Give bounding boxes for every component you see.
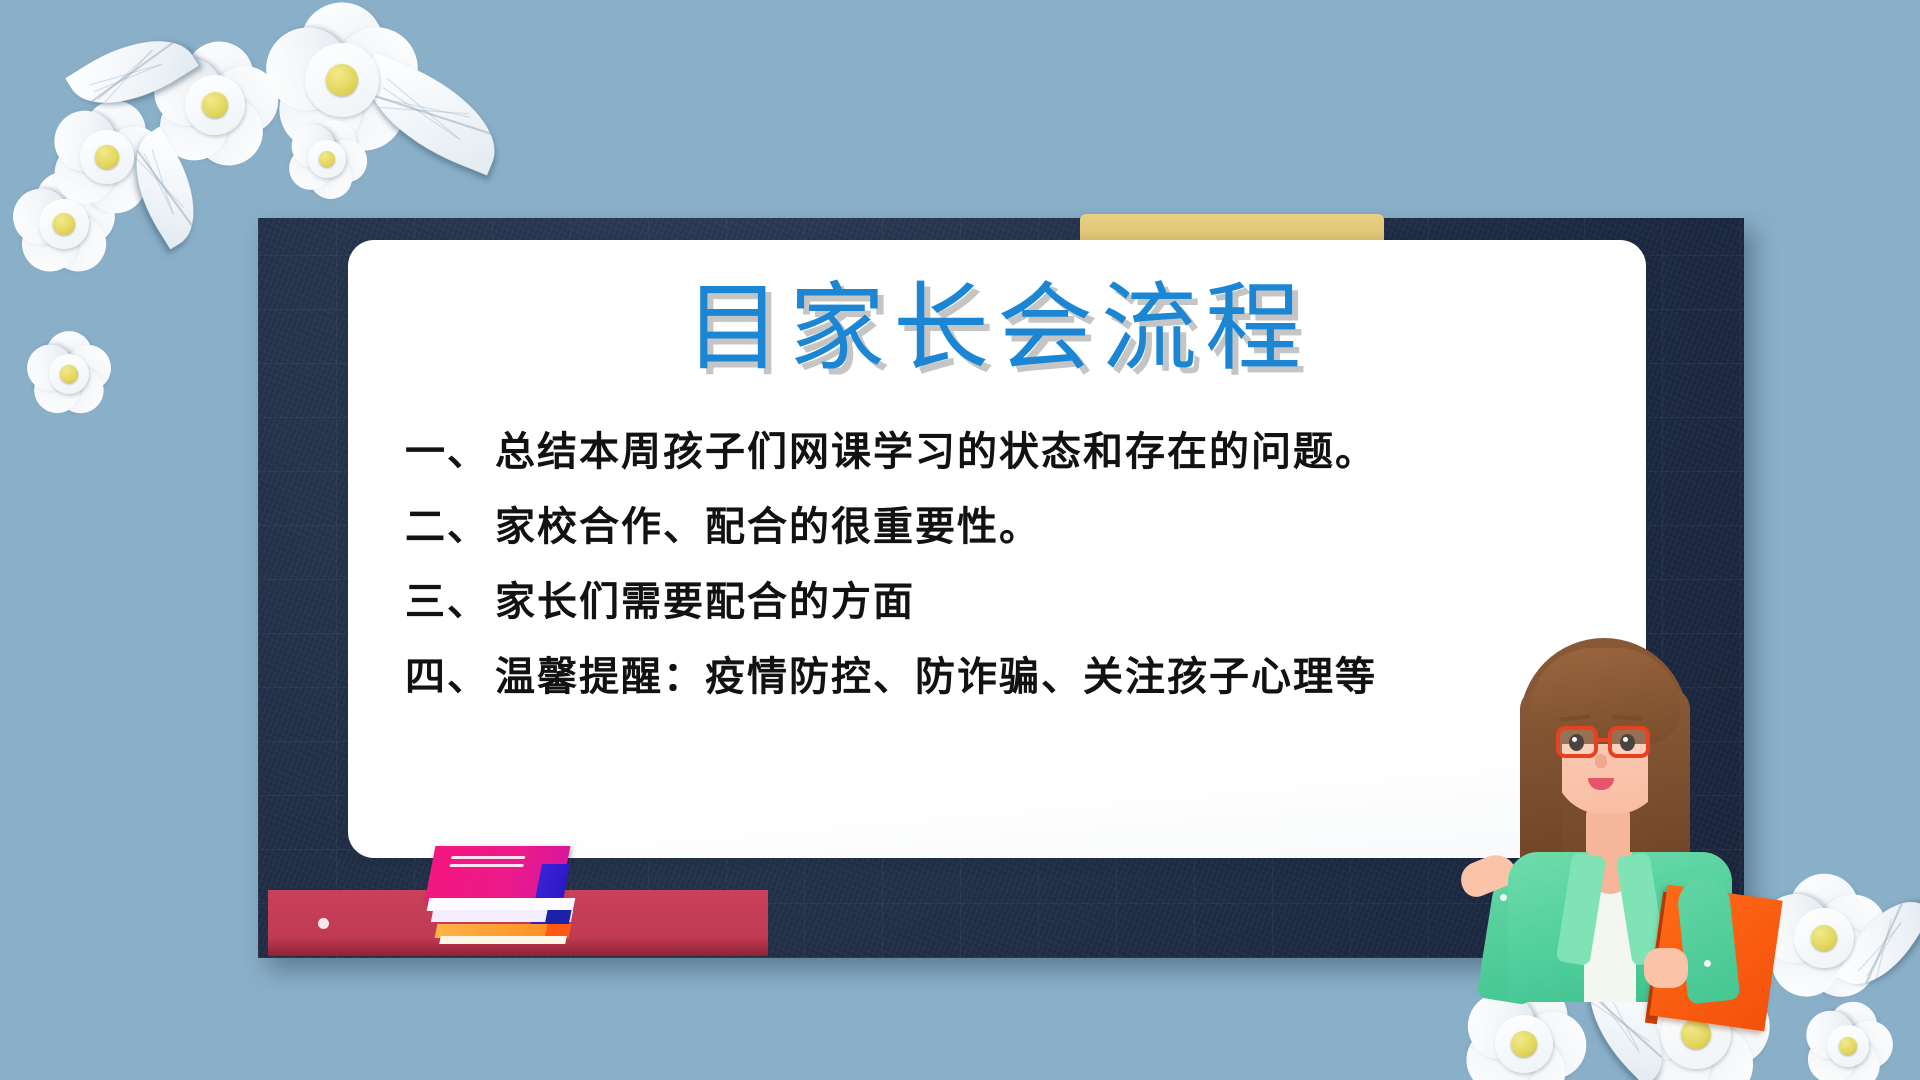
leaf-vein (91, 42, 173, 102)
flower-icon (286, 118, 368, 200)
leaf-icon (112, 127, 218, 250)
hand-right (1644, 948, 1688, 988)
flower-petals (262, 0, 422, 160)
flower-center (319, 151, 335, 167)
leaf-ribs (1836, 884, 1920, 1001)
agenda-list: 一、总结本周孩子们网课学习的状态和存在的问题。 二、家校合作、配合的很重要性。 … (405, 432, 1605, 732)
flower-icon (150, 40, 280, 170)
teacher-illustration (1468, 630, 1768, 1000)
leaf-vein (1866, 903, 1903, 983)
list-item-index: 一、 (405, 428, 489, 475)
flower-icon (262, 0, 422, 160)
leaf-ribs (112, 127, 218, 250)
flower-inner (1495, 1015, 1554, 1074)
flower-petals (10, 170, 118, 278)
flower-icon (1802, 1000, 1894, 1080)
leaf-vein (371, 94, 491, 134)
flower-petals (150, 40, 280, 170)
page-title: 目家长会流程 (348, 250, 1646, 389)
leaf-icon (348, 53, 514, 176)
leaf-ribs (65, 15, 199, 129)
book-page-cream (439, 936, 567, 944)
flower-center (95, 145, 119, 169)
leaf-icon (65, 15, 199, 129)
flower-center (1811, 925, 1837, 951)
flower-petals (286, 118, 368, 200)
flower-icon (1758, 872, 1890, 1004)
flower-center (326, 64, 358, 96)
list-item-index: 四、 (405, 653, 489, 700)
list-item-text: 温馨提醒：疫情防控、防诈骗、关注孩子心理等 (495, 653, 1377, 700)
list-item: 一、总结本周孩子们网课学习的状态和存在的问题。 (405, 432, 1605, 472)
cuff-button-left (1500, 894, 1507, 901)
flower-center (60, 365, 78, 383)
hair-fringe (1530, 648, 1680, 744)
presentation-slide: 目家长会流程 一、总结本周孩子们网课学习的状态和存在的问题。 二、家校合作、配合… (0, 0, 1920, 1080)
flower-inner (308, 140, 346, 178)
leaf-icon (1836, 884, 1920, 1001)
list-item-index: 三、 (405, 578, 489, 625)
flower-icon (10, 170, 118, 278)
cuff-button-right (1704, 960, 1711, 967)
list-item-index: 二、 (405, 503, 489, 550)
list-item: 四、温馨提醒：疫情防控、防诈骗、关注孩子心理等 (405, 657, 1605, 697)
flower-icon (48, 98, 166, 216)
chalk-piece (318, 918, 329, 929)
flower-petals (1758, 872, 1890, 1004)
list-item-text: 家长们需要配合的方面 (495, 578, 915, 625)
flower-petals (25, 330, 113, 418)
flower-center (202, 92, 228, 118)
list-item-text: 总结本周孩子们网课学习的状态和存在的问题。 (495, 428, 1377, 475)
glasses-bridge (1596, 738, 1610, 742)
flower-petals (48, 98, 166, 216)
flower-inner (185, 75, 245, 135)
flower-center (1511, 1031, 1537, 1057)
list-item: 二、家校合作、配合的很重要性。 (405, 507, 1605, 547)
leaf-ribs (348, 53, 514, 176)
list-item-text: 家校合作、配合的很重要性。 (495, 503, 1041, 550)
list-item: 三、家长们需要配合的方面 (405, 582, 1605, 622)
flower-center (1839, 1037, 1857, 1055)
flower-inner (39, 199, 89, 249)
nose (1595, 754, 1607, 768)
flower-inner (1794, 908, 1855, 969)
flower-inner (80, 130, 134, 184)
book-stack (418, 846, 618, 956)
flower-inner (49, 354, 89, 394)
flower-inner (1827, 1025, 1869, 1067)
flower-icon (25, 330, 113, 418)
flower-center (53, 213, 75, 235)
flower-inner (305, 43, 379, 117)
glasses-lens-left (1556, 726, 1598, 758)
flower-petals (1802, 1000, 1894, 1080)
leaf-vein (137, 150, 193, 226)
glasses-lens-right (1608, 726, 1650, 758)
